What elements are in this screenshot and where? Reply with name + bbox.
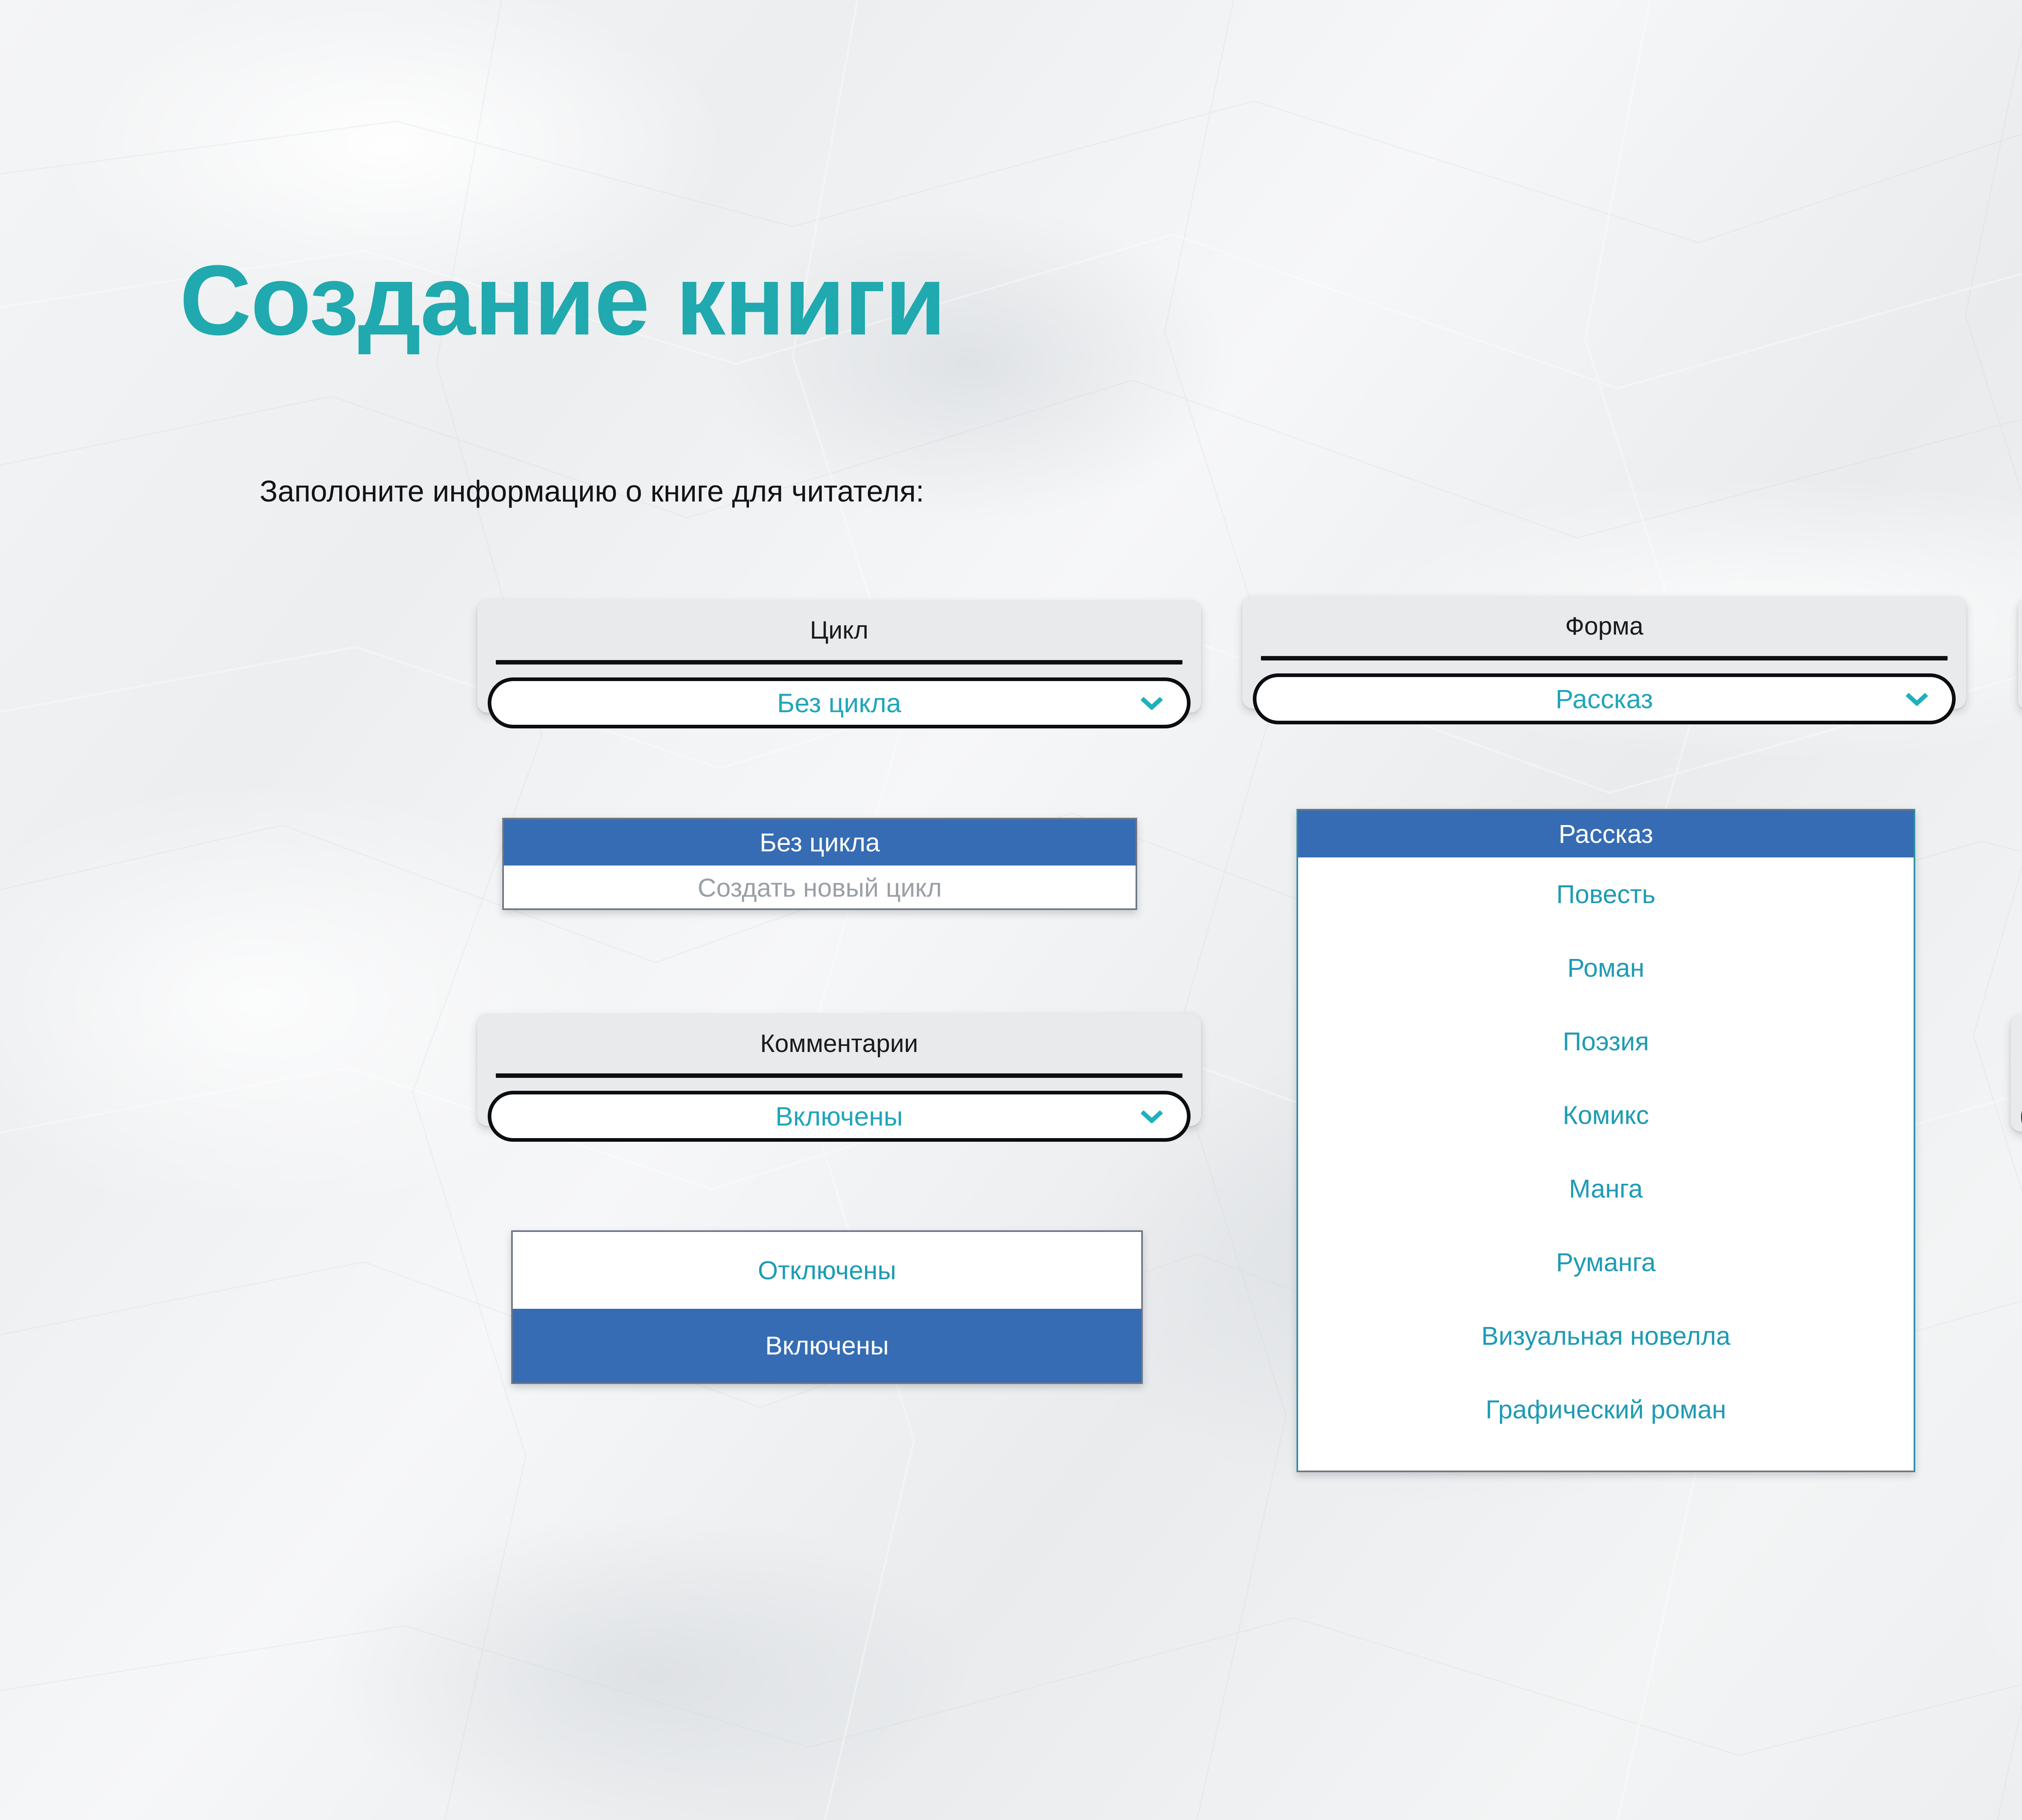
chevron-down-icon bbox=[1140, 1109, 1163, 1123]
dropdown-list-form[interactable]: Рассказ Повесть Роман Поэзия Комикс Манг… bbox=[1297, 809, 1915, 1472]
option-label: Комикс bbox=[1563, 1100, 1649, 1130]
select-value-cycle: Без цикла bbox=[777, 690, 901, 716]
select-comments[interactable]: Включены bbox=[488, 1091, 1191, 1142]
dropdown-list-cycle[interactable]: Без цикла Создать новый цикл bbox=[502, 818, 1137, 910]
option-label: Без цикла bbox=[759, 827, 880, 857]
select-form[interactable]: Рассказ bbox=[1253, 673, 1956, 724]
field-rule-form bbox=[1261, 656, 1948, 660]
option-comments-0[interactable]: Отключены bbox=[513, 1232, 1141, 1309]
option-label: Поэзия bbox=[1563, 1026, 1649, 1056]
option-form-2[interactable]: Роман bbox=[1298, 931, 1914, 1005]
option-label: Графический роман bbox=[1486, 1395, 1726, 1424]
option-label: Руманга bbox=[1556, 1247, 1656, 1277]
option-form-5[interactable]: Манга bbox=[1298, 1152, 1914, 1225]
select-cycle[interactable]: Без цикла bbox=[488, 677, 1191, 728]
option-form-3[interactable]: Поэзия bbox=[1298, 1005, 1914, 1078]
field-rule-cycle bbox=[496, 660, 1182, 665]
field-card-audiobook: Аудио книга Запрешена bbox=[2018, 598, 2022, 710]
field-card-comments: Комментарии Включены bbox=[477, 1014, 1201, 1126]
option-form-8[interactable]: Графический роман bbox=[1298, 1373, 1914, 1446]
chevron-down-icon bbox=[1905, 692, 1929, 706]
option-label: Роман bbox=[1567, 953, 1644, 983]
chevron-down-icon bbox=[1140, 696, 1163, 710]
dropdown-list-comments[interactable]: Отключены Включены bbox=[511, 1230, 1143, 1384]
option-label: Манга bbox=[1569, 1174, 1643, 1204]
option-form-1[interactable]: Повесть bbox=[1298, 857, 1914, 931]
option-label: Рассказ bbox=[1559, 819, 1653, 849]
option-cycle-1[interactable]: Создать новый цикл bbox=[504, 866, 1136, 910]
field-head-form: Форма bbox=[1242, 596, 1966, 656]
option-label: Включены bbox=[765, 1331, 889, 1361]
option-form-7[interactable]: Визуальная новелла bbox=[1298, 1299, 1914, 1373]
option-form-6[interactable]: Руманга bbox=[1298, 1225, 1914, 1299]
page-title: Создание книги bbox=[180, 251, 945, 350]
option-form-0[interactable]: Рассказ bbox=[1298, 811, 1914, 857]
field-label-form: Форма bbox=[1565, 612, 1643, 641]
field-head-audiobook: Аудио книга bbox=[2018, 598, 2022, 658]
option-label: Отключены bbox=[758, 1255, 896, 1285]
field-label-cycle: Цикл bbox=[810, 616, 869, 645]
option-form-4[interactable]: Комикс bbox=[1298, 1078, 1914, 1152]
option-label: Повесть bbox=[1556, 879, 1655, 909]
option-cycle-0[interactable]: Без цикла bbox=[504, 819, 1136, 866]
field-rule-comments bbox=[496, 1073, 1182, 1078]
option-label: Создать новый цикл bbox=[698, 873, 942, 903]
field-card-subscription: Абонемент Отключён bbox=[2011, 1014, 2022, 1132]
option-label: Визуальная новелла bbox=[1481, 1321, 1730, 1351]
field-card-form: Форма Рассказ bbox=[1242, 596, 1966, 709]
field-head-cycle: Цикл bbox=[477, 600, 1201, 660]
page-subtitle: Заполоните информацию о книге для читате… bbox=[260, 476, 924, 506]
field-label-comments: Комментарии bbox=[760, 1029, 918, 1058]
select-value-comments: Включены bbox=[775, 1103, 903, 1130]
field-card-cycle: Цикл Без цикла bbox=[477, 600, 1201, 713]
select-value-form: Рассказ bbox=[1555, 686, 1653, 712]
field-head-comments: Комментарии bbox=[477, 1014, 1201, 1073]
field-head-subscription: Абонемент bbox=[2011, 1014, 2022, 1074]
option-comments-1[interactable]: Включены bbox=[513, 1309, 1141, 1382]
